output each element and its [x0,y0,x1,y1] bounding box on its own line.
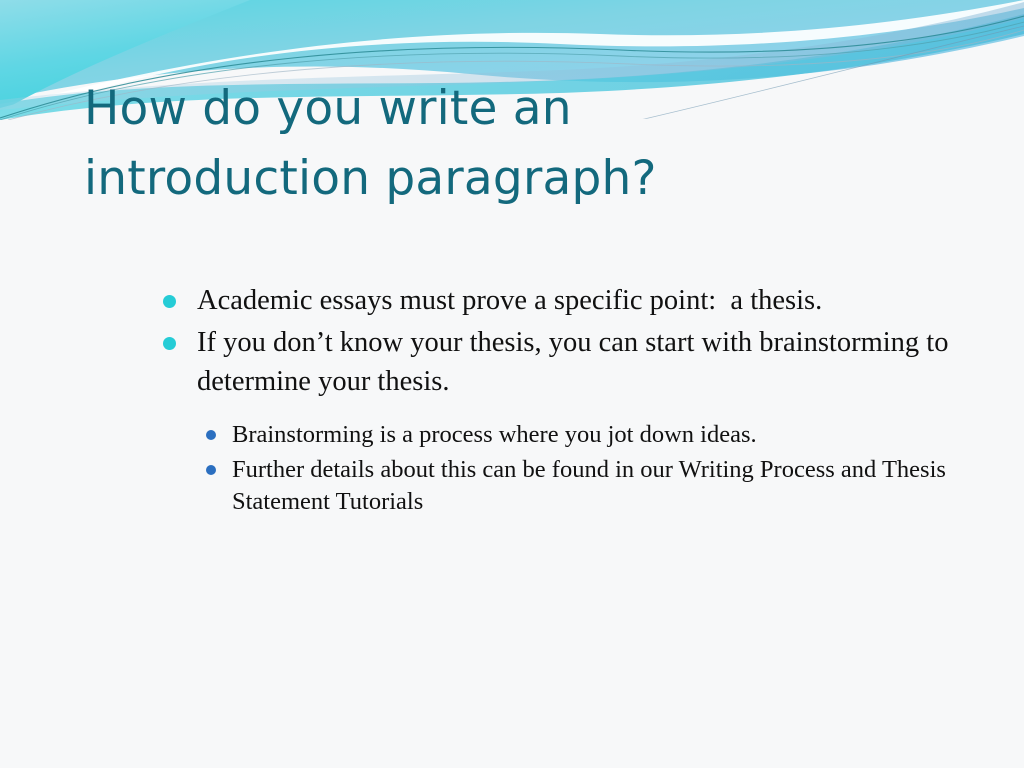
list-item: If you don’t know your thesis, you can s… [150,324,980,401]
list-item: Academic essays must prove a specific po… [150,282,980,320]
bullet-text: Brainstorming is a process where you jot… [232,419,980,452]
bullet-dot-icon [163,295,176,308]
bullet-text: Further details about this can be found … [232,454,980,519]
slide-title: How do you write an introduction paragra… [84,74,904,213]
bullet-list-level-1: Academic essays must prove a specific po… [150,282,980,401]
slide-title-line-1: How do you write an [84,74,904,144]
slide-body: Academic essays must prove a specific po… [150,282,980,521]
slide-title-line-2: introduction paragraph? [84,144,904,214]
bullet-dot-icon [163,337,176,350]
sub-bullet-group: Brainstorming is a process where you jot… [192,419,980,519]
bullet-list-level-2: Brainstorming is a process where you jot… [192,419,980,519]
list-item: Further details about this can be found … [192,454,980,519]
bullet-text: If you don’t know your thesis, you can s… [197,324,980,401]
list-item: Brainstorming is a process where you jot… [192,419,980,452]
bullet-dot-icon [206,430,216,440]
bullet-dot-icon [206,465,216,475]
bullet-text: Academic essays must prove a specific po… [197,282,980,320]
presentation-slide: How do you write an introduction paragra… [0,0,1024,768]
